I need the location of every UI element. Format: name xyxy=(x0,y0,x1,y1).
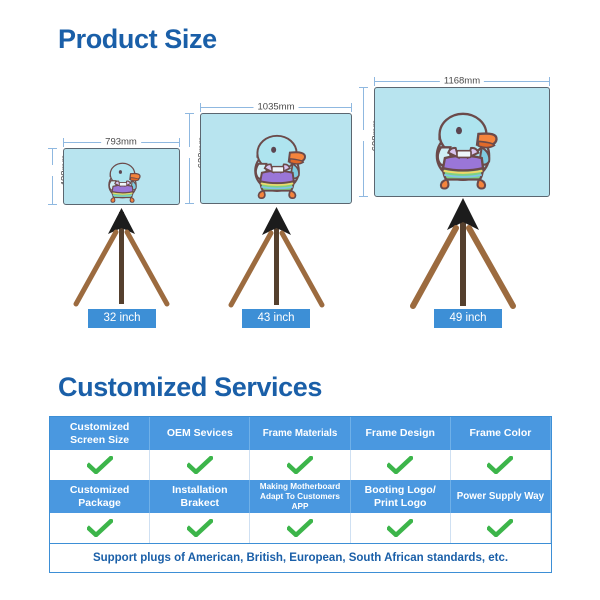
table-cell-check-installation-brakect xyxy=(150,513,250,543)
table-check-row-2 xyxy=(50,513,551,543)
check-icon xyxy=(387,519,413,537)
table-cell-check-frame-color xyxy=(451,450,551,480)
table-header-making-motherboard: Making MotherboardAdapt To Customers APP xyxy=(250,480,350,513)
tripod-stand-32 xyxy=(64,204,179,314)
table-header-row-1: CustomizedScreen Size OEM Sevices Frame … xyxy=(50,417,551,450)
table-header-customized-package: CustomizedPackage xyxy=(50,480,150,513)
tv-screen-32[interactable] xyxy=(63,148,180,205)
size-badge-49[interactable]: 49 inch xyxy=(434,309,502,328)
table-footer-text: Support plugs of American, British, Euro… xyxy=(93,552,508,564)
dimension-line-height-49 xyxy=(363,87,364,197)
duck-character-icon xyxy=(64,149,180,205)
size-badge-43[interactable]: 43 inch xyxy=(242,309,310,328)
table-cell-check-frame-design xyxy=(351,450,451,480)
check-icon xyxy=(487,456,513,474)
size-badge-32[interactable]: 32 inch xyxy=(88,309,156,328)
check-icon xyxy=(287,519,313,537)
tv-screen-43[interactable] xyxy=(200,113,352,204)
table-header-frame-color: Frame Color xyxy=(451,417,551,450)
duck-character-icon xyxy=(201,114,352,204)
table-footer-row: Support plugs of American, British, Euro… xyxy=(50,543,551,572)
check-icon xyxy=(187,456,213,474)
dimension-line-height-32 xyxy=(52,148,53,205)
duck-character-icon xyxy=(375,88,550,197)
page-title-customized-services: Customized Services xyxy=(58,372,322,403)
table-cell-check-booting-logo xyxy=(351,513,451,543)
product-size-stage: 793mm 488mm xyxy=(0,60,600,345)
table-cell-check-customized-screen-size xyxy=(50,450,150,480)
check-icon xyxy=(87,456,113,474)
table-header-oem-sevices: OEM Sevices xyxy=(150,417,250,450)
table-header-installation-brakect: InstallationBrakect xyxy=(150,480,250,513)
check-icon xyxy=(387,456,413,474)
table-cell-check-making-motherboard xyxy=(250,513,350,543)
dimension-label-width-43: 1035mm xyxy=(254,102,299,113)
dimension-label-width-49: 1168mm xyxy=(440,76,484,87)
table-cell-check-oem-sevices xyxy=(150,450,250,480)
table-header-row-2: CustomizedPackage InstallationBrakect Ma… xyxy=(50,480,551,513)
table-cell-check-customized-package xyxy=(50,513,150,543)
table-check-row-1 xyxy=(50,450,551,480)
tripod-stand-43 xyxy=(221,203,333,315)
page-title-product-size: Product Size xyxy=(58,24,217,55)
tripod-stand-49 xyxy=(405,196,525,314)
table-header-booting-logo: Booting Logo/Print Logo xyxy=(351,480,451,513)
customized-services-table: CustomizedScreen Size OEM Sevices Frame … xyxy=(49,416,552,573)
table-cell-check-frame-materials xyxy=(250,450,350,480)
check-icon xyxy=(487,519,513,537)
check-icon xyxy=(287,456,313,474)
dimension-label-width-32: 793mm xyxy=(101,137,141,148)
check-icon xyxy=(187,519,213,537)
table-header-frame-materials: Frame Materials xyxy=(250,417,350,450)
table-header-power-supply-way: Power Supply Way xyxy=(451,480,551,513)
table-header-frame-design: Frame Design xyxy=(351,417,451,450)
dimension-line-height-43 xyxy=(189,113,190,204)
tv-screen-49[interactable] xyxy=(374,87,550,197)
table-header-customized-screen-size: CustomizedScreen Size xyxy=(50,417,150,450)
check-icon xyxy=(87,519,113,537)
table-cell-check-power-supply-way xyxy=(451,513,551,543)
